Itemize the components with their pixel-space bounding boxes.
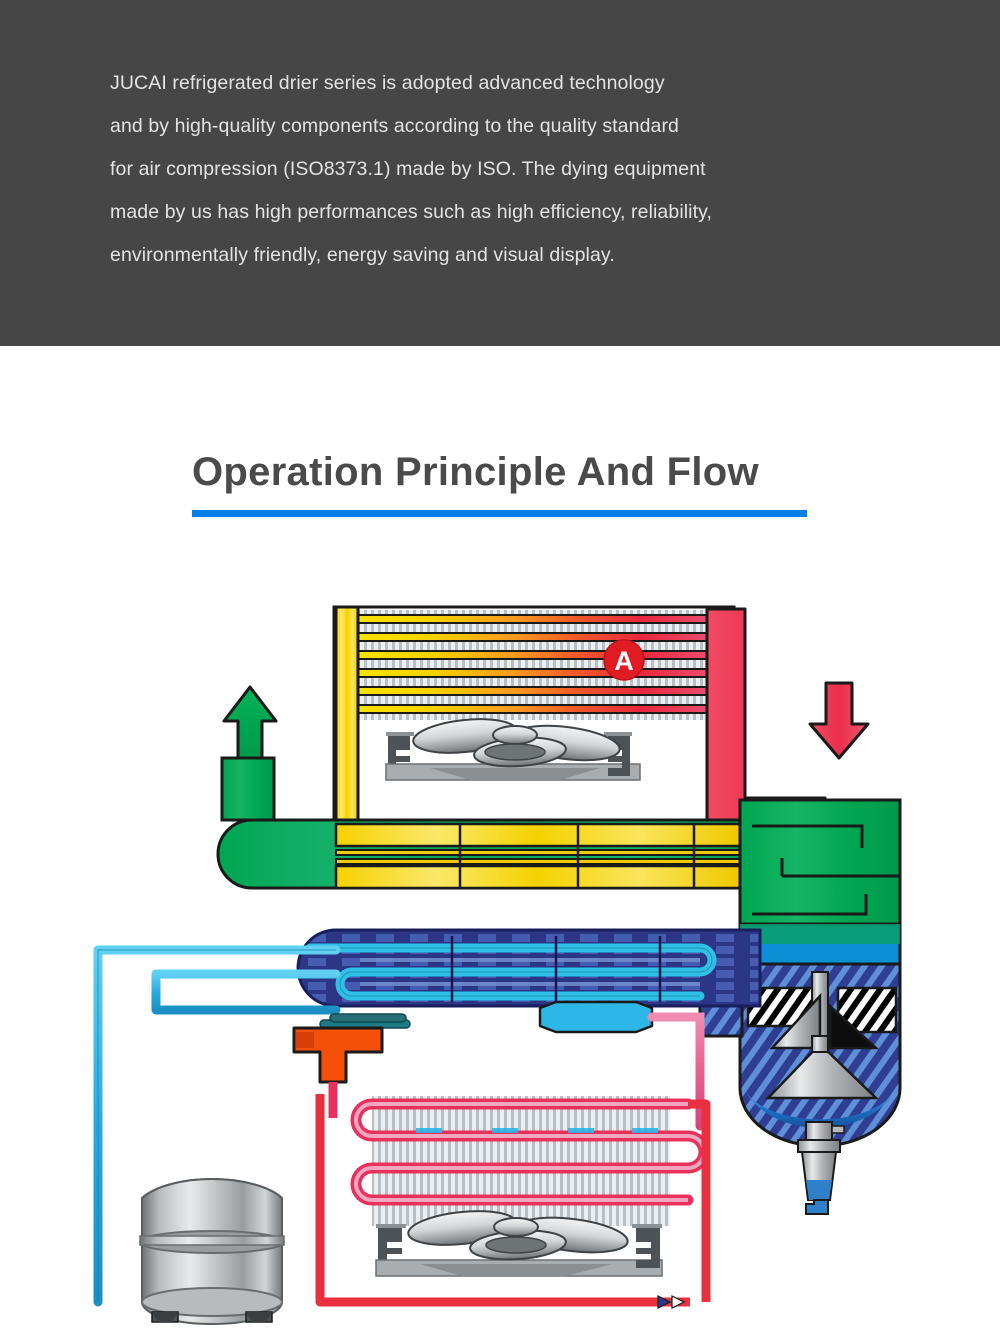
- intro-paragraph: JUCAI refrigerated drier series is adopt…: [110, 62, 940, 277]
- refrigerated-air-dryer-flow-diagram: A: [0, 536, 1000, 1343]
- section-title-block: Operation Principle And Flow: [0, 346, 1000, 536]
- expansion-valve: [294, 1028, 382, 1082]
- precooler-heat-exchanger: [218, 820, 740, 888]
- title-underline-rule: [192, 510, 807, 517]
- heat-exchanger-riser-yellow: [336, 607, 358, 829]
- air-outlet-arrow-up: [224, 687, 276, 758]
- intro-banner: JUCAI refrigerated drier series is adopt…: [0, 0, 1000, 346]
- precooler-outlet-to-separator: [740, 800, 900, 932]
- evaporator: [298, 930, 760, 1006]
- air-outlet-pipe-green: [222, 758, 274, 820]
- condenser-coil-bottom: [356, 1096, 704, 1226]
- marker-a: A: [604, 640, 644, 680]
- page-title: Operation Principle And Flow: [192, 450, 759, 495]
- refrigerant-compressor: [140, 1179, 284, 1324]
- thermostat-bulb: [320, 1014, 410, 1028]
- marker-a-label: A: [614, 646, 634, 676]
- air-inlet-arrow-down: [810, 683, 868, 758]
- air-cooled-condenser-top: [334, 607, 734, 827]
